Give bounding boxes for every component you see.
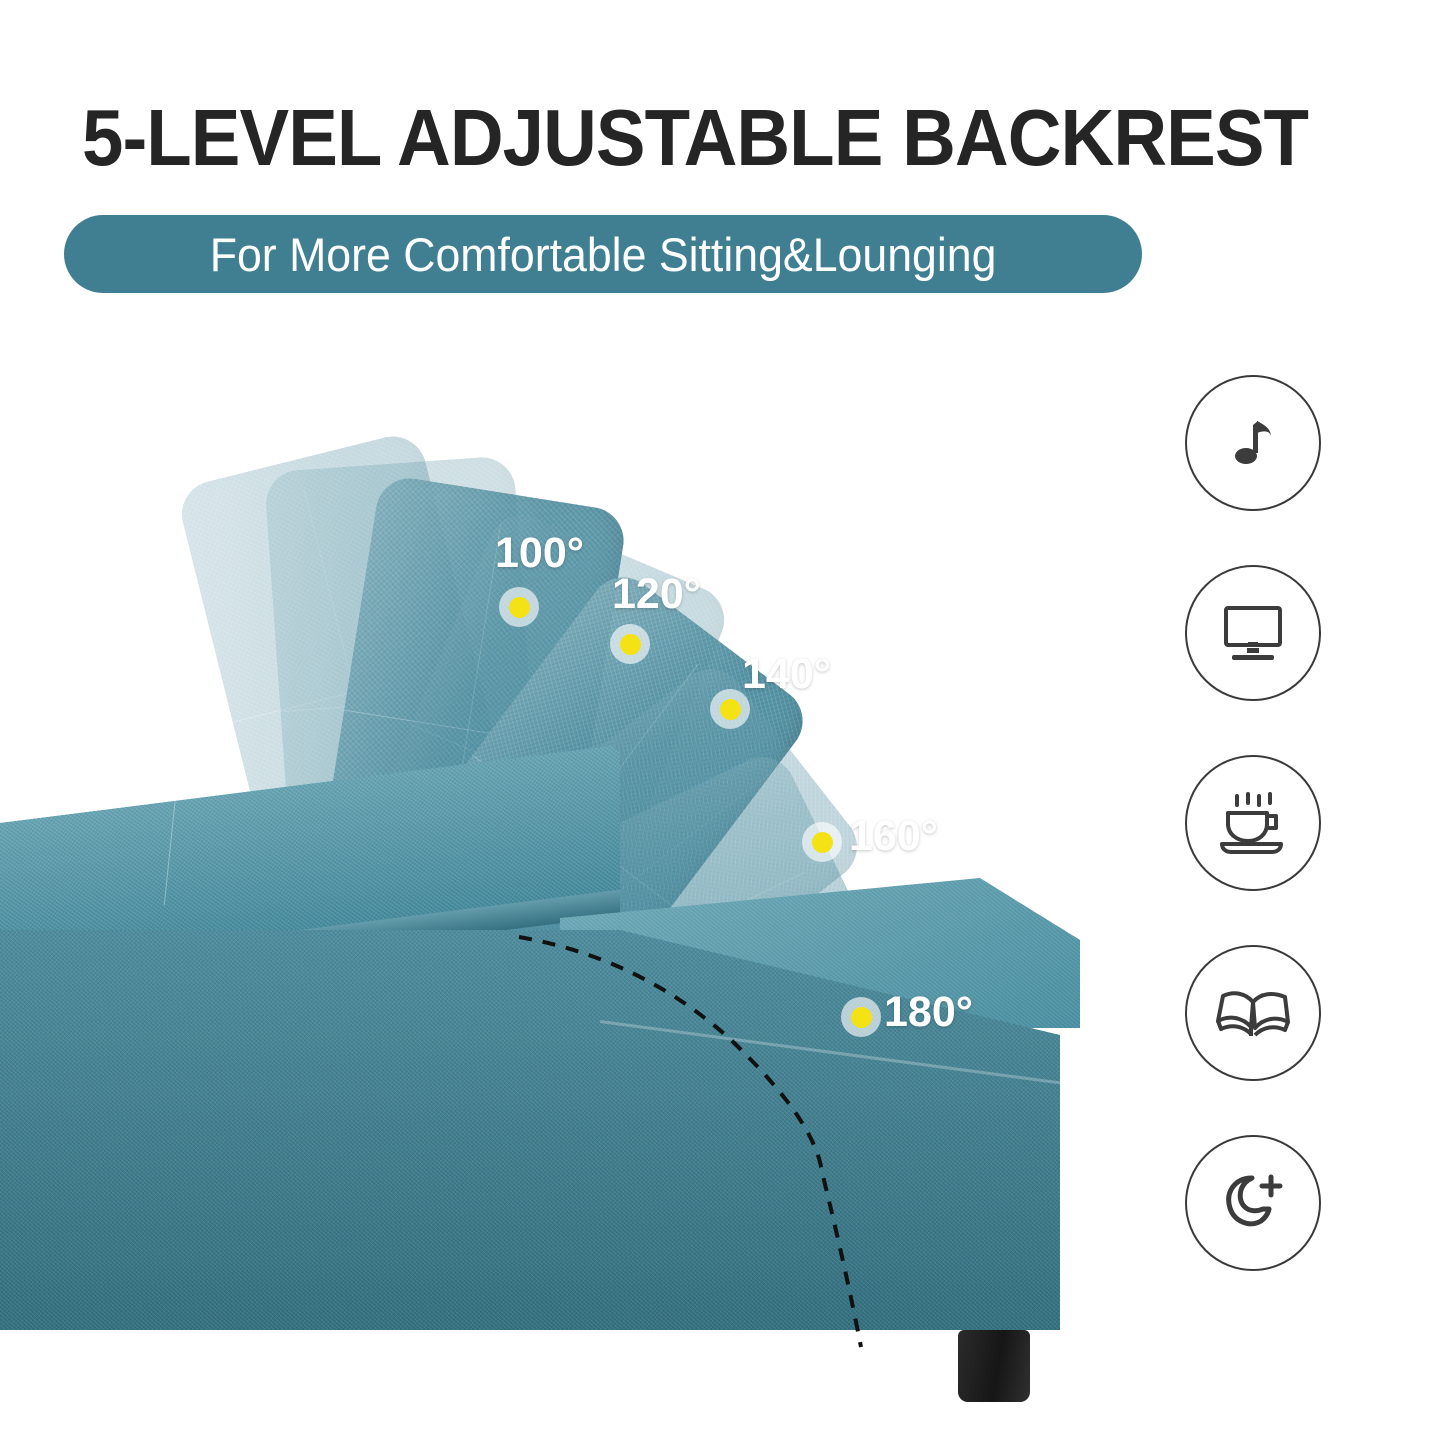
feature-icon-book [1185,945,1321,1081]
angle-label-100: 100° [495,529,584,578]
coffee-cup-icon [1218,791,1288,855]
moon-star-icon [1219,1171,1287,1235]
angle-marker-100 [499,587,539,627]
page-title: 5-LEVEL ADJUSTABLE BACKREST [82,96,1282,180]
sofa-leg [958,1330,1030,1402]
angle-label-120: 120° [612,570,701,619]
subtitle-text: For More Comfortable Sitting&Lounging [210,227,997,282]
feature-icon-column [1180,375,1340,1375]
angle-marker-120 [610,624,650,664]
feature-icon-tv [1185,565,1321,701]
angle-label-140: 140° [742,650,831,699]
angle-label-160: 160° [849,812,938,861]
product-illustration: 100° 120° 140° 160° 180° [0,330,1140,1445]
angle-marker-160 [802,822,842,862]
feature-icon-music [1185,375,1321,511]
angle-marker-180 [841,997,881,1037]
feature-icon-coffee [1185,755,1321,891]
television-icon [1218,602,1288,664]
music-note-icon [1221,411,1285,475]
angle-label-180: 180° [884,988,973,1037]
feature-icon-sleep [1185,1135,1321,1271]
open-book-icon [1215,984,1291,1042]
subtitle-banner: For More Comfortable Sitting&Lounging [64,215,1142,293]
